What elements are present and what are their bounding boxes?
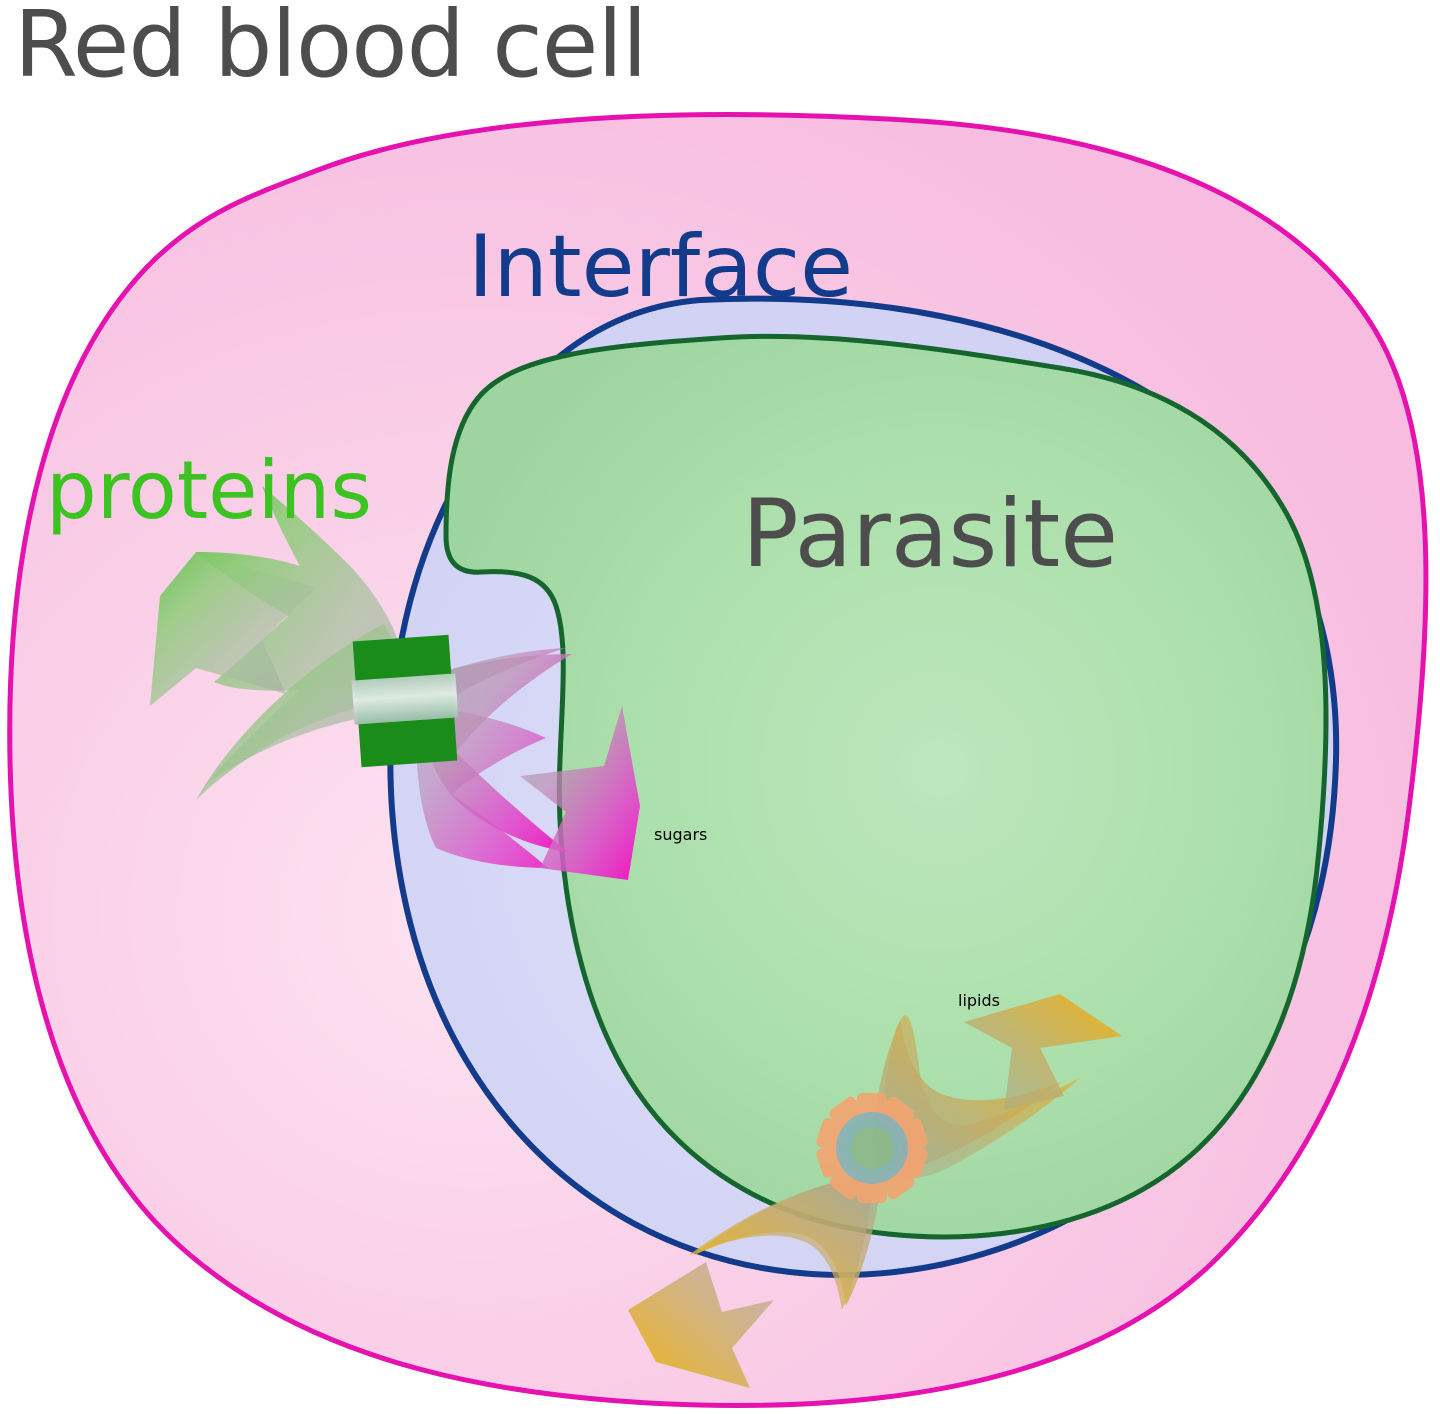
proteins-label: proteins — [46, 444, 372, 537]
gear-core — [851, 1127, 893, 1169]
sugars-label: sugars — [654, 825, 707, 844]
page-title: Red blood cell — [14, 0, 647, 98]
interface-label: Interface — [468, 217, 853, 317]
cell-diagram: Red blood cell Interface Parasite protei… — [0, 0, 1440, 1414]
transporter-channel[interactable] — [352, 635, 459, 767]
lipids-label: lipids — [958, 991, 1000, 1010]
diagram-canvas: Red blood cell Interface Parasite protei… — [0, 0, 1440, 1414]
transporter-pore — [352, 673, 459, 724]
lipid-transfer-gear[interactable] — [815, 1093, 929, 1203]
parasite-label: Parasite — [742, 480, 1118, 589]
